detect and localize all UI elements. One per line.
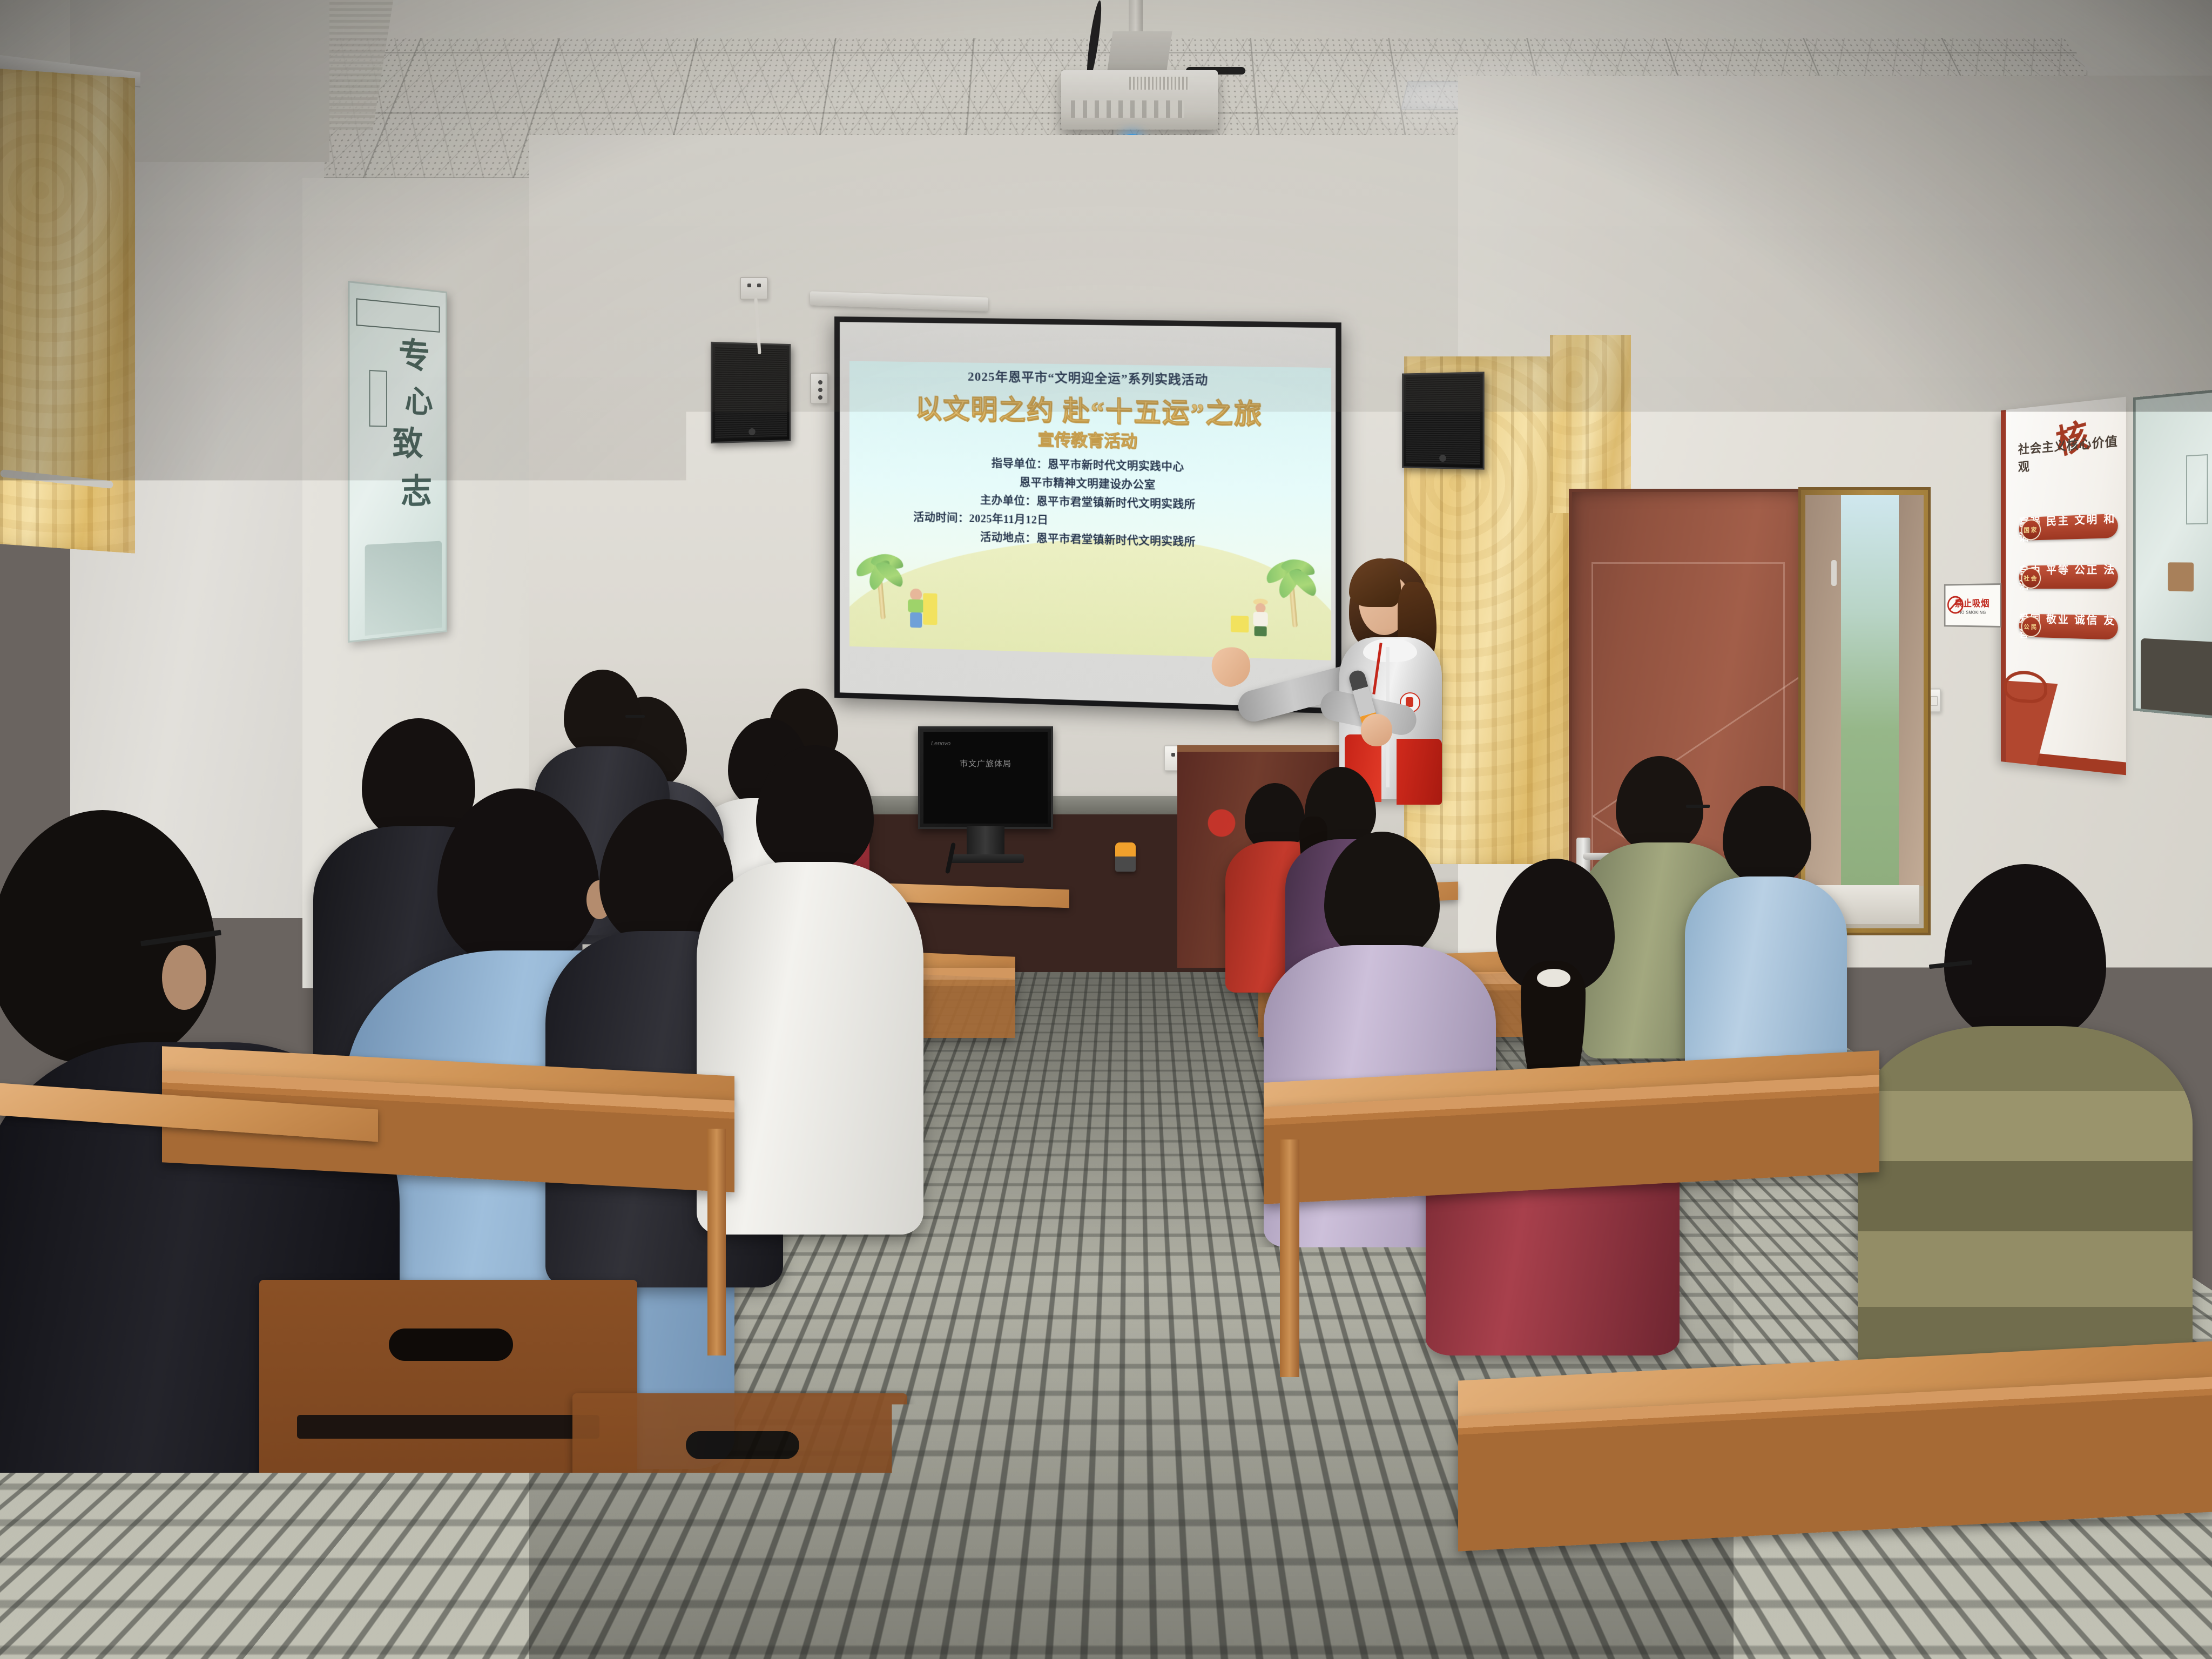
framed-pic-brushpot (2168, 562, 2194, 591)
poster-right-badge-2: 社会 (2021, 568, 2041, 589)
chair-slot-2 (297, 1498, 599, 1522)
slide-kid-shirt (908, 599, 924, 613)
window-sash-right[interactable] (1899, 495, 1924, 886)
a9-head (1324, 832, 1440, 960)
a10-hair-tie (1537, 969, 1570, 987)
slide-palm-left (857, 554, 909, 620)
poster-right-row-1: 国家 富强 民主 文明 和谐 (2019, 514, 2118, 541)
presenter-mic-hand (1361, 714, 1392, 746)
wall-speaker-right (1402, 372, 1485, 469)
poster-left-illustration (365, 541, 442, 636)
framed-pic-desk (2141, 638, 2212, 716)
slide-kid2-body (1253, 612, 1268, 626)
speaker-logo-right (1439, 455, 1446, 462)
ceiling-projector (1061, 70, 1218, 130)
speaker-grille-right (1406, 376, 1480, 466)
projection-screen: 2025年恩平市“文明迎全运”系列实践活动 以文明之约 赴“十五运”之旅 宣传教… (834, 316, 1341, 714)
monitor-screen-text: 市文广旅体局 (923, 758, 1048, 769)
poster-right-title: 社会主义核心价值观 (2018, 431, 2120, 475)
av-control-button-1[interactable] (818, 380, 822, 385)
desk-front-left-leg (707, 1129, 726, 1355)
framed-ink-painting (2133, 389, 2212, 719)
audience-person-a13 (1858, 864, 2193, 1393)
wall-outlet-upper-left[interactable] (740, 277, 768, 300)
chair-right-row[interactable] (572, 1393, 907, 1659)
switch-rocker-3[interactable] (1931, 696, 1938, 706)
presenter-collar (1363, 638, 1417, 662)
monitor-stand (967, 826, 1004, 857)
monitor-base (950, 854, 1024, 863)
projector-ports (1071, 100, 1184, 118)
slide-watering-pot (1231, 616, 1249, 633)
presentation-slide: 2025年恩平市“文明迎全运”系列实践活动 以文明之约 赴“十五运”之旅 宣传教… (849, 361, 1331, 660)
outlet-hole-a (747, 284, 751, 287)
poster-left-char-4: 志 (401, 475, 432, 509)
slide-recycle-bin (923, 593, 937, 625)
slide-kid-legs (910, 612, 922, 628)
av-control-button-2[interactable] (818, 388, 822, 392)
monitor-screen: Lenovo 市文广旅体局 (923, 732, 1048, 824)
poster-right-row-3: 公民 爱国 敬业 诚信 友善 (2019, 614, 2118, 640)
audience-person-a12 (1685, 786, 1847, 1088)
slide-kid-planting (1247, 598, 1272, 638)
poster-left-char-3: 致 (393, 427, 423, 461)
poster-right-badge-3: 公民 (2021, 616, 2041, 638)
wall-outlet-av-control[interactable] (810, 373, 828, 404)
window-latch[interactable] (1831, 560, 1837, 586)
poster-left-char-2: 心 (405, 386, 433, 418)
framed-pic-inscription (2186, 454, 2208, 524)
poster-socialist-core-values: 核 社会主义核心价值观 国家 富强 民主 文明 和谐 社会 自由 平等 公正 法… (2001, 397, 2126, 775)
speaker-grille-left (715, 346, 787, 439)
wall-speaker-left (711, 342, 791, 443)
presenter-hair-front (1349, 558, 1401, 607)
chair-right-handle-cutout (686, 1431, 799, 1459)
desk-front-right-leg (1280, 1139, 1299, 1377)
curtain-right-tall (1550, 335, 1631, 513)
poster-left-header-band (356, 298, 440, 333)
a13-head (1944, 864, 2106, 1042)
lenovo-monitor[interactable]: Lenovo 市文广旅体局 (918, 726, 1053, 829)
chair-handle-cutout (389, 1328, 513, 1361)
slide-line-1: 2025年恩平市“文明迎全运”系列实践活动 (856, 365, 1324, 390)
no-smoking-sign: 禁止吸烟 NO SMOKING (1944, 583, 2001, 628)
projector-vent (1129, 77, 1189, 90)
classroom-photo: 专 心 致 志 核 社会主义核心价值观 国家 富强 民主 文明 和谐 社会 自由… (0, 0, 2212, 1659)
a12-head (1723, 786, 1811, 884)
chair-mid-right[interactable] (1599, 1177, 1847, 1372)
a4-head (564, 670, 642, 756)
no-smoking-label-en: NO SMOKING (1958, 610, 1986, 615)
window-glass (1841, 495, 1899, 886)
poster-right-row-2: 社会 自由 平等 公正 法治 (2019, 564, 2118, 589)
white-shirt-head (756, 745, 874, 875)
poster-left-char-1: 专 (399, 338, 430, 374)
handheld-microphone-on-desk[interactable] (1115, 842, 1136, 872)
poster-right-cloud-motif (2004, 670, 2047, 704)
outlet-hole-b (757, 284, 761, 287)
no-smoking-icon (1947, 596, 1964, 614)
a1-ear (162, 945, 206, 1010)
projection-screen-surface: 2025年恩平市“文明迎全运”系列实践活动 以文明之约 赴“十五运”之旅 宣传教… (840, 322, 1336, 708)
monitor-brand-label: Lenovo (931, 740, 950, 747)
a4-glasses (625, 715, 645, 718)
chair-slot-1 (297, 1415, 599, 1439)
slide-kid-recycling (903, 588, 928, 629)
slide-kid2-boots (1255, 626, 1267, 636)
projector-mount-bracket (1107, 31, 1172, 75)
av-control-button-3[interactable] (818, 395, 822, 400)
poster-calligraphy-left: 专 心 致 志 (348, 281, 447, 643)
outlet-behind-hole-a (1171, 753, 1175, 757)
poster-left-seal (369, 370, 387, 427)
